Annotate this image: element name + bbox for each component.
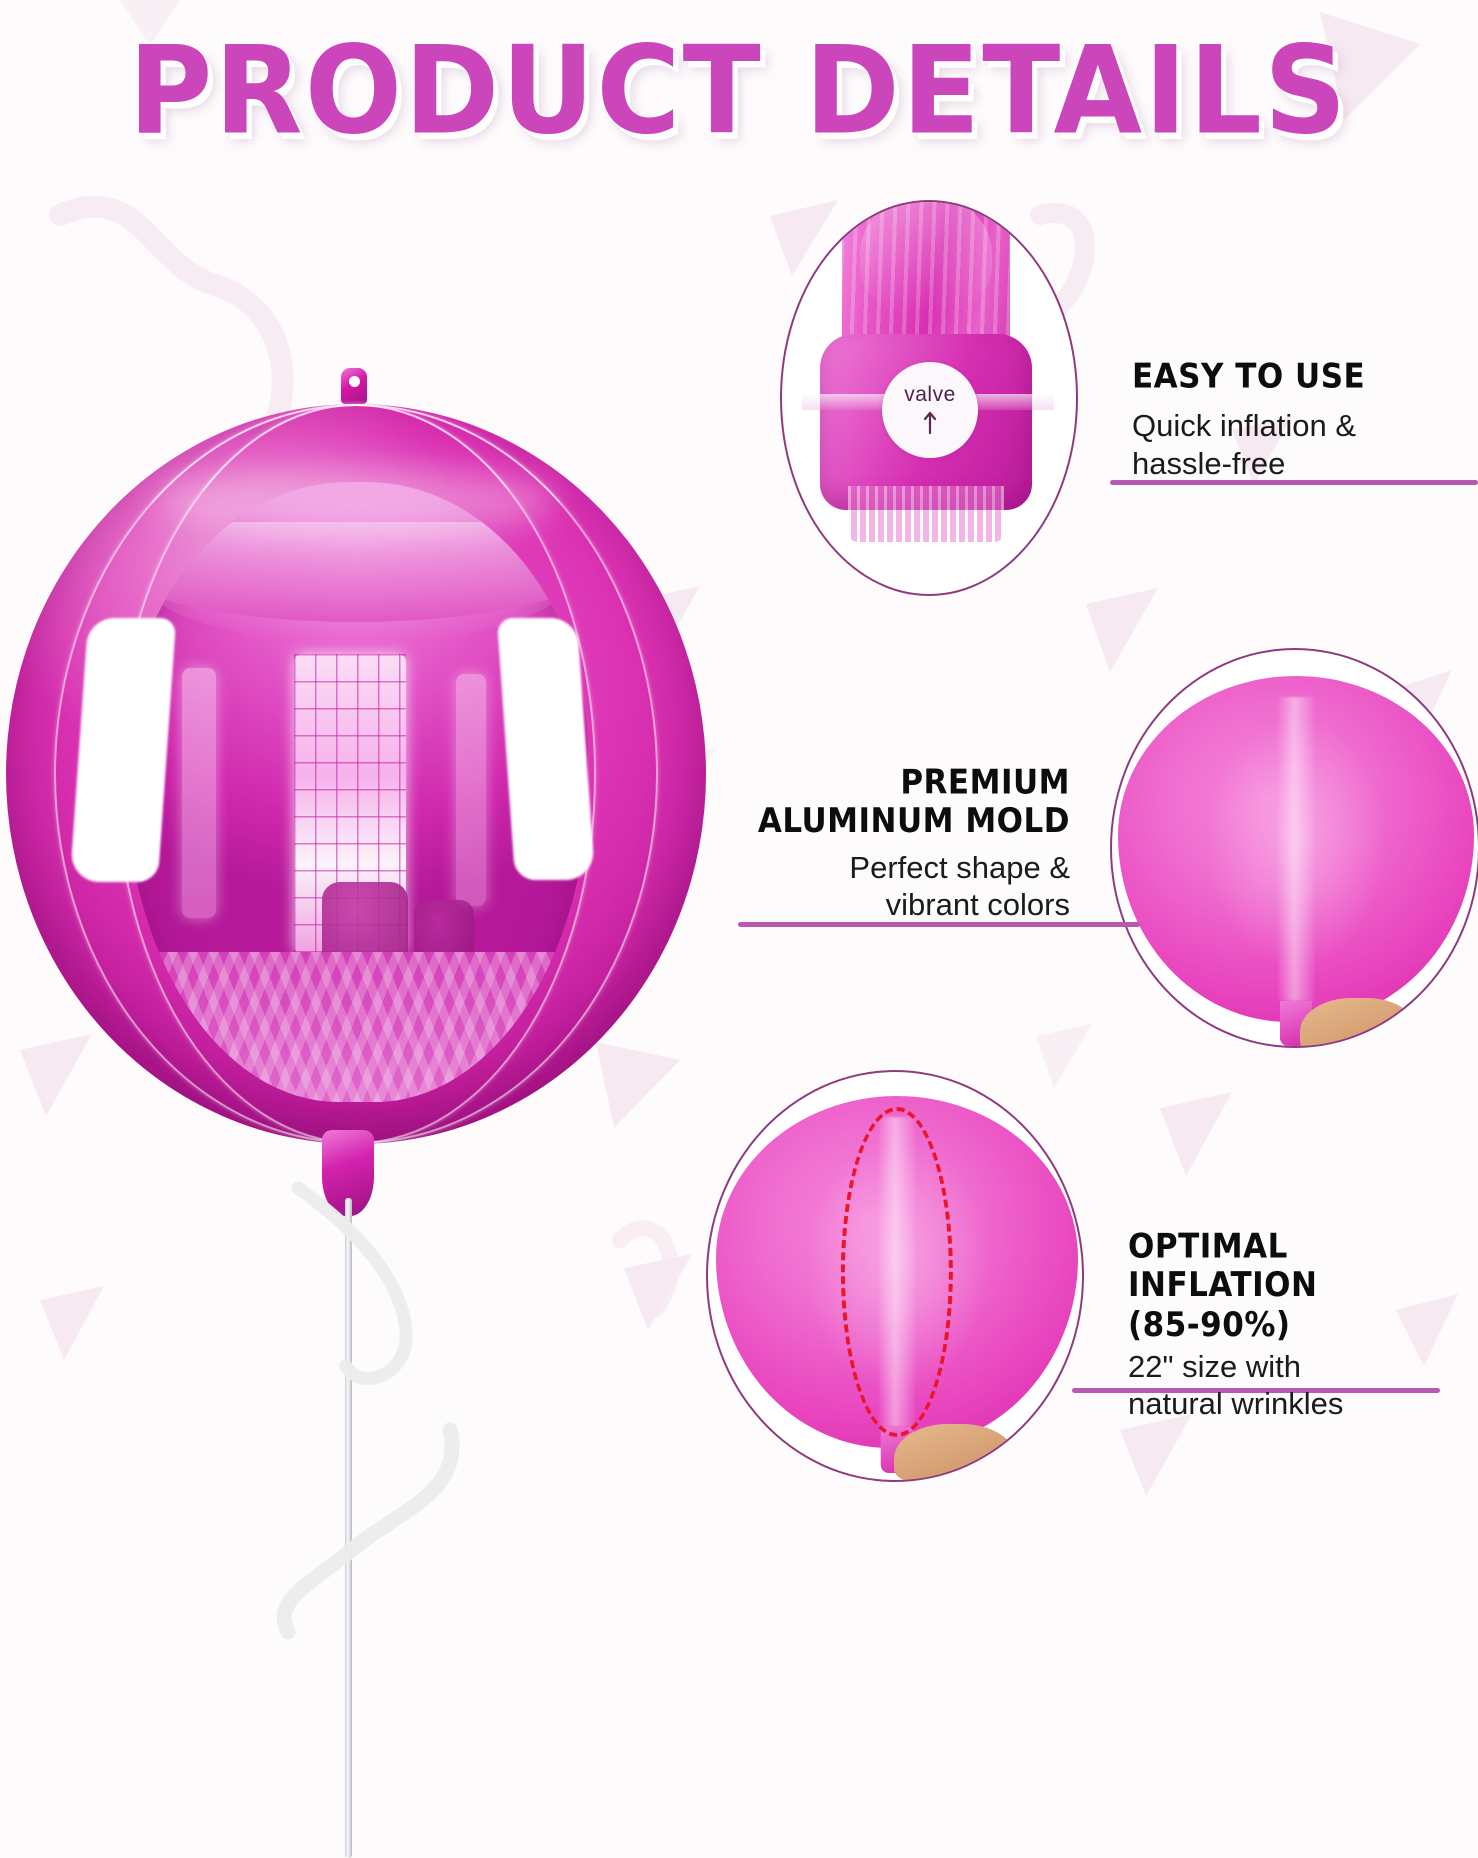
feature-body-optimal-inflation: 22" size with natural wrinkles bbox=[1128, 1348, 1472, 1422]
feature-heading-line1: PREMIUM bbox=[740, 764, 1070, 803]
orb-seam-highlight bbox=[1278, 697, 1314, 1001]
feature-body-line2: natural wrinkles bbox=[1128, 1385, 1472, 1422]
valve-label-badge: valve bbox=[882, 362, 978, 458]
feature-callout-easy-to-use: EASY TO USE Quick inflation & hassle-fre… bbox=[1132, 358, 1472, 482]
feature-body-easy-to-use: Quick inflation & hassle-free bbox=[1132, 407, 1472, 481]
feature-body-line1: Perfect shape & bbox=[740, 849, 1070, 886]
valve-bottom-edge bbox=[848, 486, 1004, 542]
valve-label-text: valve bbox=[904, 383, 956, 407]
inflated-foil-orb bbox=[1118, 676, 1474, 1022]
feature-body-line1: 22" size with bbox=[1128, 1348, 1472, 1385]
feature-heading-line2: ALUMINUM MOLD bbox=[740, 803, 1070, 842]
page-title: PRODUCT DETAILS bbox=[129, 32, 1349, 153]
infographic-canvas: PRODUCT DETAILS bbox=[0, 0, 1478, 1500]
orb-seam-inner bbox=[116, 404, 596, 1144]
feature-heading-optimal-inflation: OPTIMAL INFLATION (85-90%) bbox=[1128, 1228, 1472, 1345]
curling-ribbon bbox=[250, 1180, 500, 1800]
feature-heading-line1: OPTIMAL INFLATION bbox=[1128, 1228, 1472, 1306]
wrinkled-foil-orb bbox=[716, 1096, 1078, 1448]
feature-photo-optimal-inflation bbox=[706, 1070, 1084, 1482]
red-dashed-ellipse-highlight bbox=[841, 1107, 953, 1438]
page-title-wrap: PRODUCT DETAILS bbox=[0, 38, 1478, 146]
up-arrow-icon bbox=[922, 411, 938, 435]
feature-photo-premium-aluminum-mold bbox=[1110, 648, 1478, 1048]
feature-heading-easy-to-use: EASY TO USE bbox=[1132, 358, 1472, 397]
mirror-orb-balloon bbox=[6, 404, 706, 1144]
feature-heading-premium-aluminum-mold: PREMIUM ALUMINUM MOLD bbox=[740, 764, 1070, 842]
feature-heading-line2: (85-90%) bbox=[1128, 1306, 1472, 1345]
feature-body-line1: Quick inflation & bbox=[1132, 407, 1472, 444]
hand-holding-balloon bbox=[894, 1424, 1016, 1482]
feature-body-premium-aluminum-mold: Perfect shape & vibrant colors bbox=[740, 849, 1070, 923]
feature-photo-easy-to-use: valve bbox=[780, 200, 1078, 596]
feature-body-line2: vibrant colors bbox=[740, 886, 1070, 923]
hero-product-image bbox=[0, 360, 720, 1500]
hand-holding-balloon bbox=[1300, 998, 1418, 1048]
feature-callout-premium-aluminum-mold: PREMIUM ALUMINUM MOLD Perfect shape & vi… bbox=[740, 764, 1070, 923]
feature-body-line2: hassle-free bbox=[1132, 445, 1472, 482]
feature-callout-optimal-inflation: OPTIMAL INFLATION (85-90%) 22" size with… bbox=[1128, 1228, 1472, 1422]
hang-tab-icon bbox=[341, 368, 367, 404]
